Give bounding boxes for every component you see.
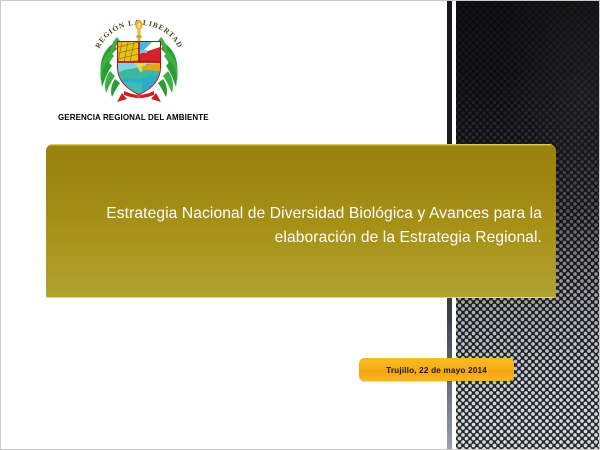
presentation-slide: REGIÓN LA LIBERTAD — [0, 0, 600, 450]
date-badge: Trujillo, 22 de mayo 2014 — [359, 358, 514, 381]
page-title: Estrategia Nacional de Diversidad Biológ… — [66, 202, 542, 250]
date-badge-label: Trujillo, 22 de mayo 2014 — [386, 365, 487, 375]
coat-of-arms-icon: REGIÓN LA LIBERTAD — [84, 9, 194, 110]
header-logo-block: REGIÓN LA LIBERTAD — [56, 9, 286, 122]
title-band: Estrategia Nacional de Diversidad Biológ… — [46, 144, 556, 298]
organization-name: GERENCIA REGIONAL DEL AMBIENTE — [58, 112, 272, 122]
